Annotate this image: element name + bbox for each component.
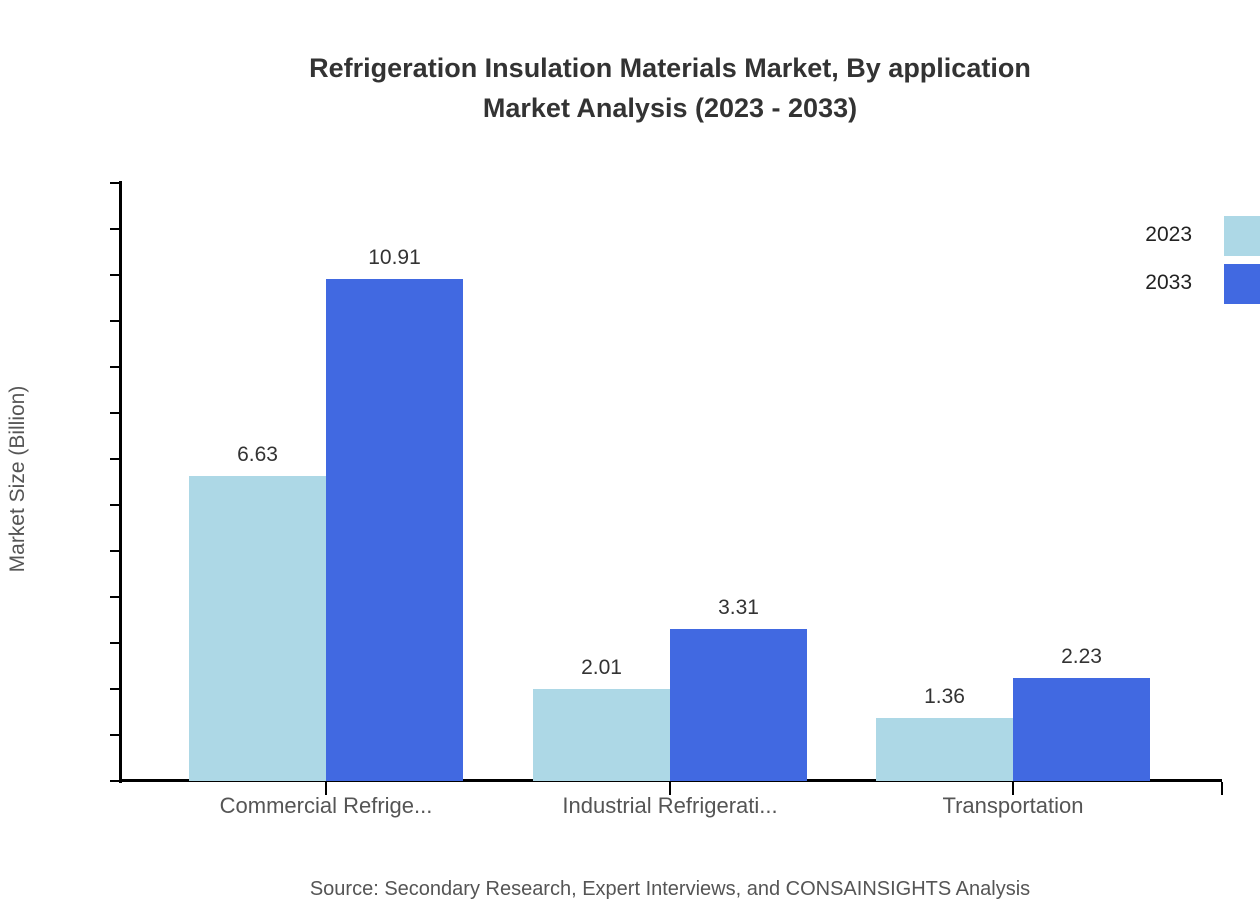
legend-item-2033[interactable]: 2033 xyxy=(1120,264,1260,304)
bar-value-label-2023-group-1: 6.63 xyxy=(189,444,326,465)
legend: 2023 2033 xyxy=(1120,216,1260,306)
y-tick-5 xyxy=(110,550,122,552)
legend-swatch-2023 xyxy=(1224,216,1260,256)
bar-2023-group-2[interactable] xyxy=(533,689,670,781)
source-note: Source: Secondary Research, Expert Inter… xyxy=(0,878,1260,901)
y-tick-9 xyxy=(110,366,122,368)
bar-value-label-2033-group-3: 2.23 xyxy=(1013,646,1150,667)
y-tick-6 xyxy=(110,504,122,506)
chart-title-line-2: Market Analysis (2023 - 2033) xyxy=(483,93,857,123)
legend-item-2023[interactable]: 2023 xyxy=(1120,216,1260,256)
bar-value-label-2023-group-3: 1.36 xyxy=(876,686,1013,707)
x-axis-category-label-2: Industrial Refrigerati... xyxy=(470,793,870,819)
bar-2033-group-2[interactable] xyxy=(670,629,807,781)
y-tick-12 xyxy=(110,228,122,230)
bar-2033-group-1[interactable] xyxy=(326,279,463,781)
y-tick-4 xyxy=(110,596,122,598)
x-axis-end-tick xyxy=(1221,782,1223,795)
y-tick-3 xyxy=(110,642,122,644)
y-tick-2 xyxy=(110,688,122,690)
y-tick-1 xyxy=(110,734,122,736)
bar-2023-group-3[interactable] xyxy=(876,718,1013,781)
bar-2023-group-1[interactable] xyxy=(189,476,326,781)
bar-chart-figure: Refrigeration Insulation Materials Marke… xyxy=(0,0,1260,920)
bar-value-label-2033-group-2: 3.31 xyxy=(670,597,807,618)
bar-value-label-2033-group-1: 10.91 xyxy=(326,247,463,268)
x-tick-group-3 xyxy=(1012,782,1014,795)
bar-value-label-2023-group-2: 2.01 xyxy=(533,657,670,678)
y-tick-10 xyxy=(110,320,122,322)
x-tick-group-2 xyxy=(669,782,671,795)
y-tick-13 xyxy=(110,182,122,184)
x-tick-group-1 xyxy=(325,782,327,795)
legend-swatch-2033 xyxy=(1224,264,1260,304)
plot-area: 012345678910111213 6.6310.912.013.311.36… xyxy=(122,183,1222,781)
bar-2033-group-3[interactable] xyxy=(1013,678,1150,781)
y-tick-0 xyxy=(110,780,122,782)
chart-title: Refrigeration Insulation Materials Marke… xyxy=(0,48,1260,128)
legend-label-2033: 2033 xyxy=(1120,272,1192,293)
x-axis-category-label-1: Commercial Refrige... xyxy=(126,793,526,819)
legend-label-2023: 2023 xyxy=(1120,224,1192,245)
chart-title-line-1: Refrigeration Insulation Materials Marke… xyxy=(309,53,1031,83)
y-axis-title: Market Size (Billion) xyxy=(6,9,30,920)
y-tick-8 xyxy=(110,412,122,414)
y-tick-11 xyxy=(110,274,122,276)
x-axis-category-label-3: Transportation xyxy=(813,793,1213,819)
y-tick-7 xyxy=(110,458,122,460)
